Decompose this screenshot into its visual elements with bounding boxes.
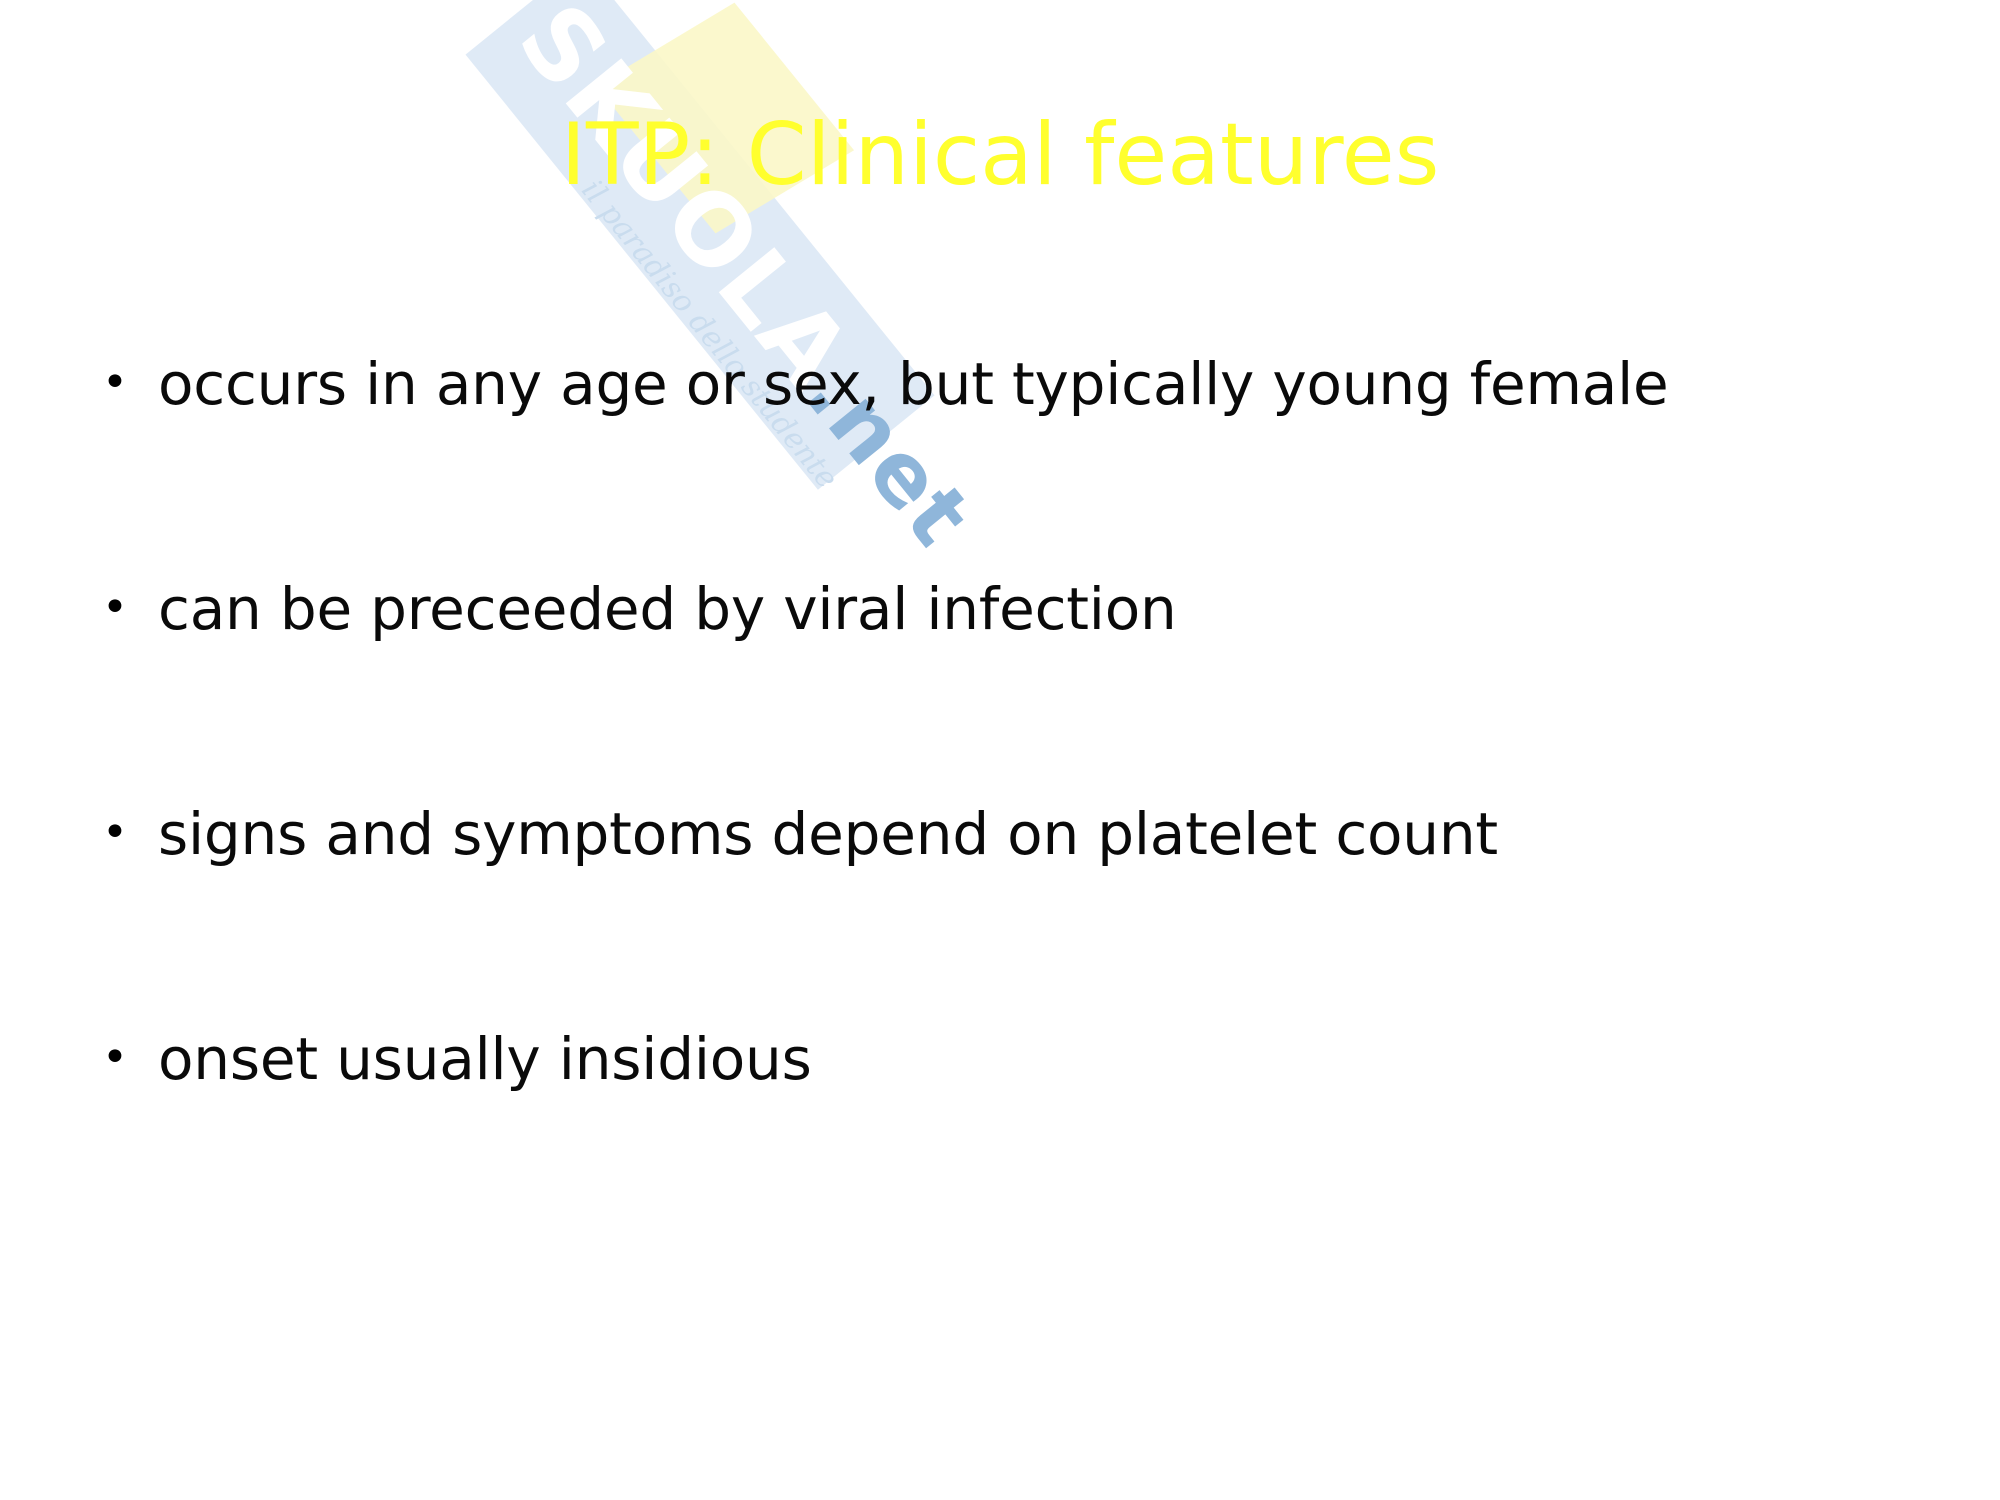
list-item-label: onset usually insidious bbox=[158, 1027, 1936, 1091]
list-item: • can be preceeded by viral infection bbox=[96, 577, 1936, 802]
list-item-label: signs and symptoms depend on platelet co… bbox=[158, 802, 1936, 866]
list-item-label: occurs in any age or sex, but typically … bbox=[158, 352, 1936, 416]
bullet-point-icon: • bbox=[96, 352, 158, 414]
list-item: • signs and symptoms depend on platelet … bbox=[96, 802, 1936, 1027]
presentation-slide: SKUOLA.net il paradiso dello studente IT… bbox=[0, 0, 2000, 1500]
list-item: • occurs in any age or sex, but typicall… bbox=[96, 352, 1936, 577]
bullet-point-icon: • bbox=[96, 577, 158, 639]
bullet-point-icon: • bbox=[96, 1027, 158, 1089]
list-item: • onset usually insidious bbox=[96, 1027, 1936, 1252]
slide-title: ITP: Clinical features bbox=[0, 108, 2000, 203]
list-item-label: can be preceeded by viral infection bbox=[158, 577, 1936, 641]
slide-bullet-list: • occurs in any age or sex, but typicall… bbox=[96, 352, 1936, 1252]
bullet-point-icon: • bbox=[96, 802, 158, 864]
